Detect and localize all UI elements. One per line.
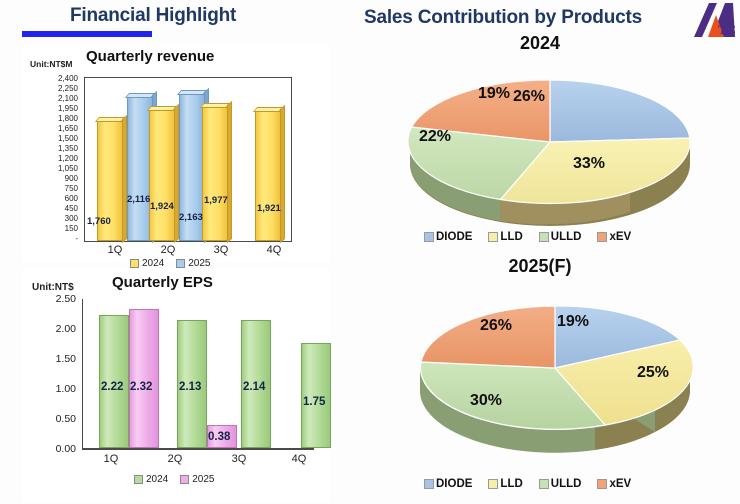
legend-swatch-lld-icon [488, 479, 498, 489]
legend-swatch-2024-icon [130, 259, 139, 268]
pie-legend-item-xev[interactable]: xEV [597, 478, 631, 490]
slide-root: Financial Highlight Sales Contribution b… [0, 0, 740, 504]
bar-revenue-2024-3q[interactable] [202, 107, 228, 241]
pie-2024-label-xev: 19% [478, 85, 510, 103]
eps-legend: 2024 2025 [134, 474, 215, 485]
x-label-eps-4q: 4Q [283, 453, 315, 465]
bar-label-revenue-2024-3q: 1,977 [204, 195, 228, 206]
pie-legend-item-diode[interactable]: DIODE [424, 478, 472, 490]
bar-label-eps-2025-1q: 2.32 [130, 381, 152, 393]
eps-legend-item-2025[interactable]: 2025 [180, 474, 214, 485]
pie-legend-item-ulld[interactable]: ULLD [539, 478, 582, 490]
pie-legend-item-diode[interactable]: DIODE [424, 231, 472, 243]
bar-eps-2025-1q[interactable] [129, 309, 159, 448]
bar-label-eps-2024-3q: 2.14 [243, 381, 265, 393]
bar-revenue-2024-4q[interactable] [255, 111, 281, 241]
x-label-revenue-3q: 3Q [206, 244, 236, 256]
legend-swatch-2025-icon [176, 259, 185, 268]
pie-legend-item-lld[interactable]: LLD [488, 231, 522, 243]
eps-chart-title: Quarterly EPS [112, 274, 213, 291]
x-label-revenue-2q: 2Q [153, 244, 183, 256]
eps-plot-area [82, 299, 314, 449]
legend-label-2025: 2025 [192, 474, 214, 485]
bar-front-face [149, 110, 175, 241]
bar-label-eps-2024-2q: 2.13 [179, 381, 201, 393]
legend-label-2024: 2024 [146, 474, 168, 485]
bar-label-eps-2024-1q: 2.22 [101, 381, 123, 393]
x-label-eps-1q: 1Q [95, 453, 127, 465]
pie-slice-2025-xev [421, 306, 555, 368]
legend-swatch-lld-icon [488, 232, 498, 242]
pie-2025-label-diode: 19% [557, 313, 589, 331]
x-label-revenue-4q: 4Q [259, 244, 289, 256]
atc-logo: TC [692, 1, 738, 39]
x-label-eps-3q: 3Q [223, 453, 255, 465]
legend-label-xev: xEV [609, 478, 631, 490]
bar-front-face [129, 309, 159, 448]
legend-label-lld: LLD [500, 231, 522, 243]
bar-front-face [255, 111, 281, 241]
legend-swatch-2024-icon [134, 475, 143, 484]
pie-2025-label-xev: 26% [480, 317, 512, 335]
eps-x-axis-line [82, 449, 314, 450]
bar-label-eps-2025-2q: 0.38 [208, 431, 230, 443]
quarterly-eps-chart: Unit:NT$ Quarterly EPS 2.50 2.00 1.50 1.… [22, 268, 330, 502]
legend-swatch-diode-icon [424, 479, 434, 489]
pie-legend-item-xev[interactable]: xEV [597, 231, 631, 243]
pie-2024-title: 2024 [470, 33, 610, 54]
pie-2025-label-lld: 25% [637, 364, 669, 382]
bar-front-face [202, 107, 228, 241]
x-label-eps-2q: 2Q [159, 453, 191, 465]
page-title-financial-highlight: Financial Highlight [70, 5, 236, 27]
legend-swatch-ulld-icon [539, 232, 549, 242]
revenue-unit-label: Unit:NT$M [30, 59, 73, 69]
pie-2025-label-ulld: 30% [470, 392, 502, 410]
legend-label-ulld: ULLD [551, 478, 582, 490]
bar-label-revenue-2025-2q: 2,163 [179, 212, 203, 223]
pie-2025-title: 2025(F) [470, 256, 610, 277]
legend-label-xev: xEV [609, 231, 631, 243]
legend-label-ulld: ULLD [551, 231, 582, 243]
pie-legend-item-lld[interactable]: LLD [488, 478, 522, 490]
pie-2025-legend: DIODE LLD ULLD xEV [424, 478, 647, 490]
legend-label-diode: DIODE [436, 478, 472, 490]
quarterly-revenue-chart: Unit:NT$M Quarterly revenue 2,400 2,250 … [22, 44, 330, 262]
legend-swatch-xev-icon [597, 479, 607, 489]
bar-label-revenue-2024-2q: 1,924 [150, 201, 174, 212]
bar-label-revenue-2024-4q: 1,921 [257, 203, 281, 214]
pie-slice-2024-diode [550, 80, 690, 142]
pie-2024-label-diode: 26% [513, 88, 545, 106]
legend-label-diode: DIODE [436, 231, 472, 243]
legend-label-lld: LLD [500, 478, 522, 490]
bar-label-revenue-2025-1q: 2,116 [127, 194, 150, 205]
legend-swatch-diode-icon [424, 232, 434, 242]
pie-chart-2024 [400, 62, 700, 230]
logo-text: TC [718, 22, 736, 37]
legend-swatch-xev-icon [597, 232, 607, 242]
pie-2024-label-ulld: 22% [419, 128, 451, 146]
page-title-sales-contribution: Sales Contribution by Products [364, 7, 642, 29]
title-underline-bar [22, 31, 152, 37]
pie-2024-legend: DIODE LLD ULLD xEV [424, 231, 647, 243]
revenue-chart-title: Quarterly revenue [86, 48, 214, 65]
legend-swatch-2025-icon [180, 475, 189, 484]
x-label-revenue-1q: 1Q [100, 244, 130, 256]
pie-2024-label-lld: 33% [573, 155, 605, 173]
eps-legend-item-2024[interactable]: 2024 [134, 474, 168, 485]
bar-revenue-2024-2q[interactable] [149, 110, 175, 241]
eps-unit-label: Unit:NT$ [32, 282, 74, 293]
legend-swatch-ulld-icon [539, 479, 549, 489]
pie-legend-item-ulld[interactable]: ULLD [539, 231, 582, 243]
bar-label-eps-2024-4q: 1.75 [303, 396, 325, 408]
bar-label-revenue-2024-1q: 1,760 [87, 216, 111, 227]
